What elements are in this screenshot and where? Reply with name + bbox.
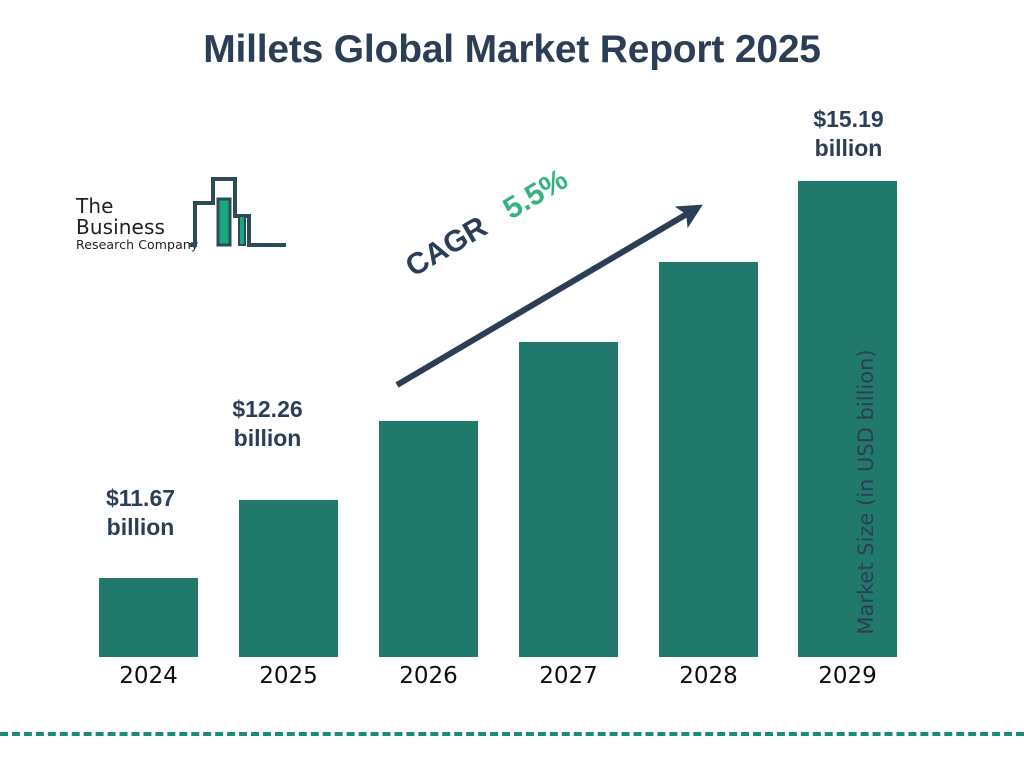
bar-value-2025-amount: $12.26 (190, 395, 345, 424)
bar-chart-plot: $11.67 billion $12.26 billion $15.19 bil… (0, 0, 1024, 768)
bar-value-2024-amount: $11.67 (63, 484, 218, 513)
x-tick-2026: 2026 (379, 663, 478, 689)
bar-2025 (239, 500, 338, 657)
bar-value-2025: $12.26 billion (190, 395, 345, 453)
footer-divider (0, 732, 1024, 736)
bar-2024 (99, 578, 198, 657)
bar-2029 (798, 181, 897, 657)
bar-2028 (659, 262, 758, 657)
bar-value-2024-unit: billion (63, 513, 218, 542)
y-axis-title: Market Size (in USD billion) (854, 332, 878, 652)
chart-canvas: Millets Global Market Report 2025 The Bu… (0, 0, 1024, 768)
cagr-label: CAGR (400, 210, 493, 283)
x-tick-2028: 2028 (659, 663, 758, 689)
x-tick-2027: 2027 (519, 663, 618, 689)
cagr-annotation: CAGR 5.5% (400, 163, 574, 285)
bar-value-2029-amount: $15.19 (771, 105, 926, 134)
x-tick-2029: 2029 (798, 663, 897, 689)
bar-value-2029: $15.19 billion (771, 105, 926, 163)
bar-value-2024: $11.67 billion (63, 484, 218, 542)
x-tick-2025: 2025 (239, 663, 338, 689)
x-tick-2024: 2024 (99, 663, 198, 689)
bar-2027 (519, 342, 618, 657)
bar-value-2025-unit: billion (190, 424, 345, 453)
cagr-value: 5.5% (498, 163, 574, 226)
bar-value-2029-unit: billion (771, 134, 926, 163)
bar-2026 (379, 421, 478, 657)
